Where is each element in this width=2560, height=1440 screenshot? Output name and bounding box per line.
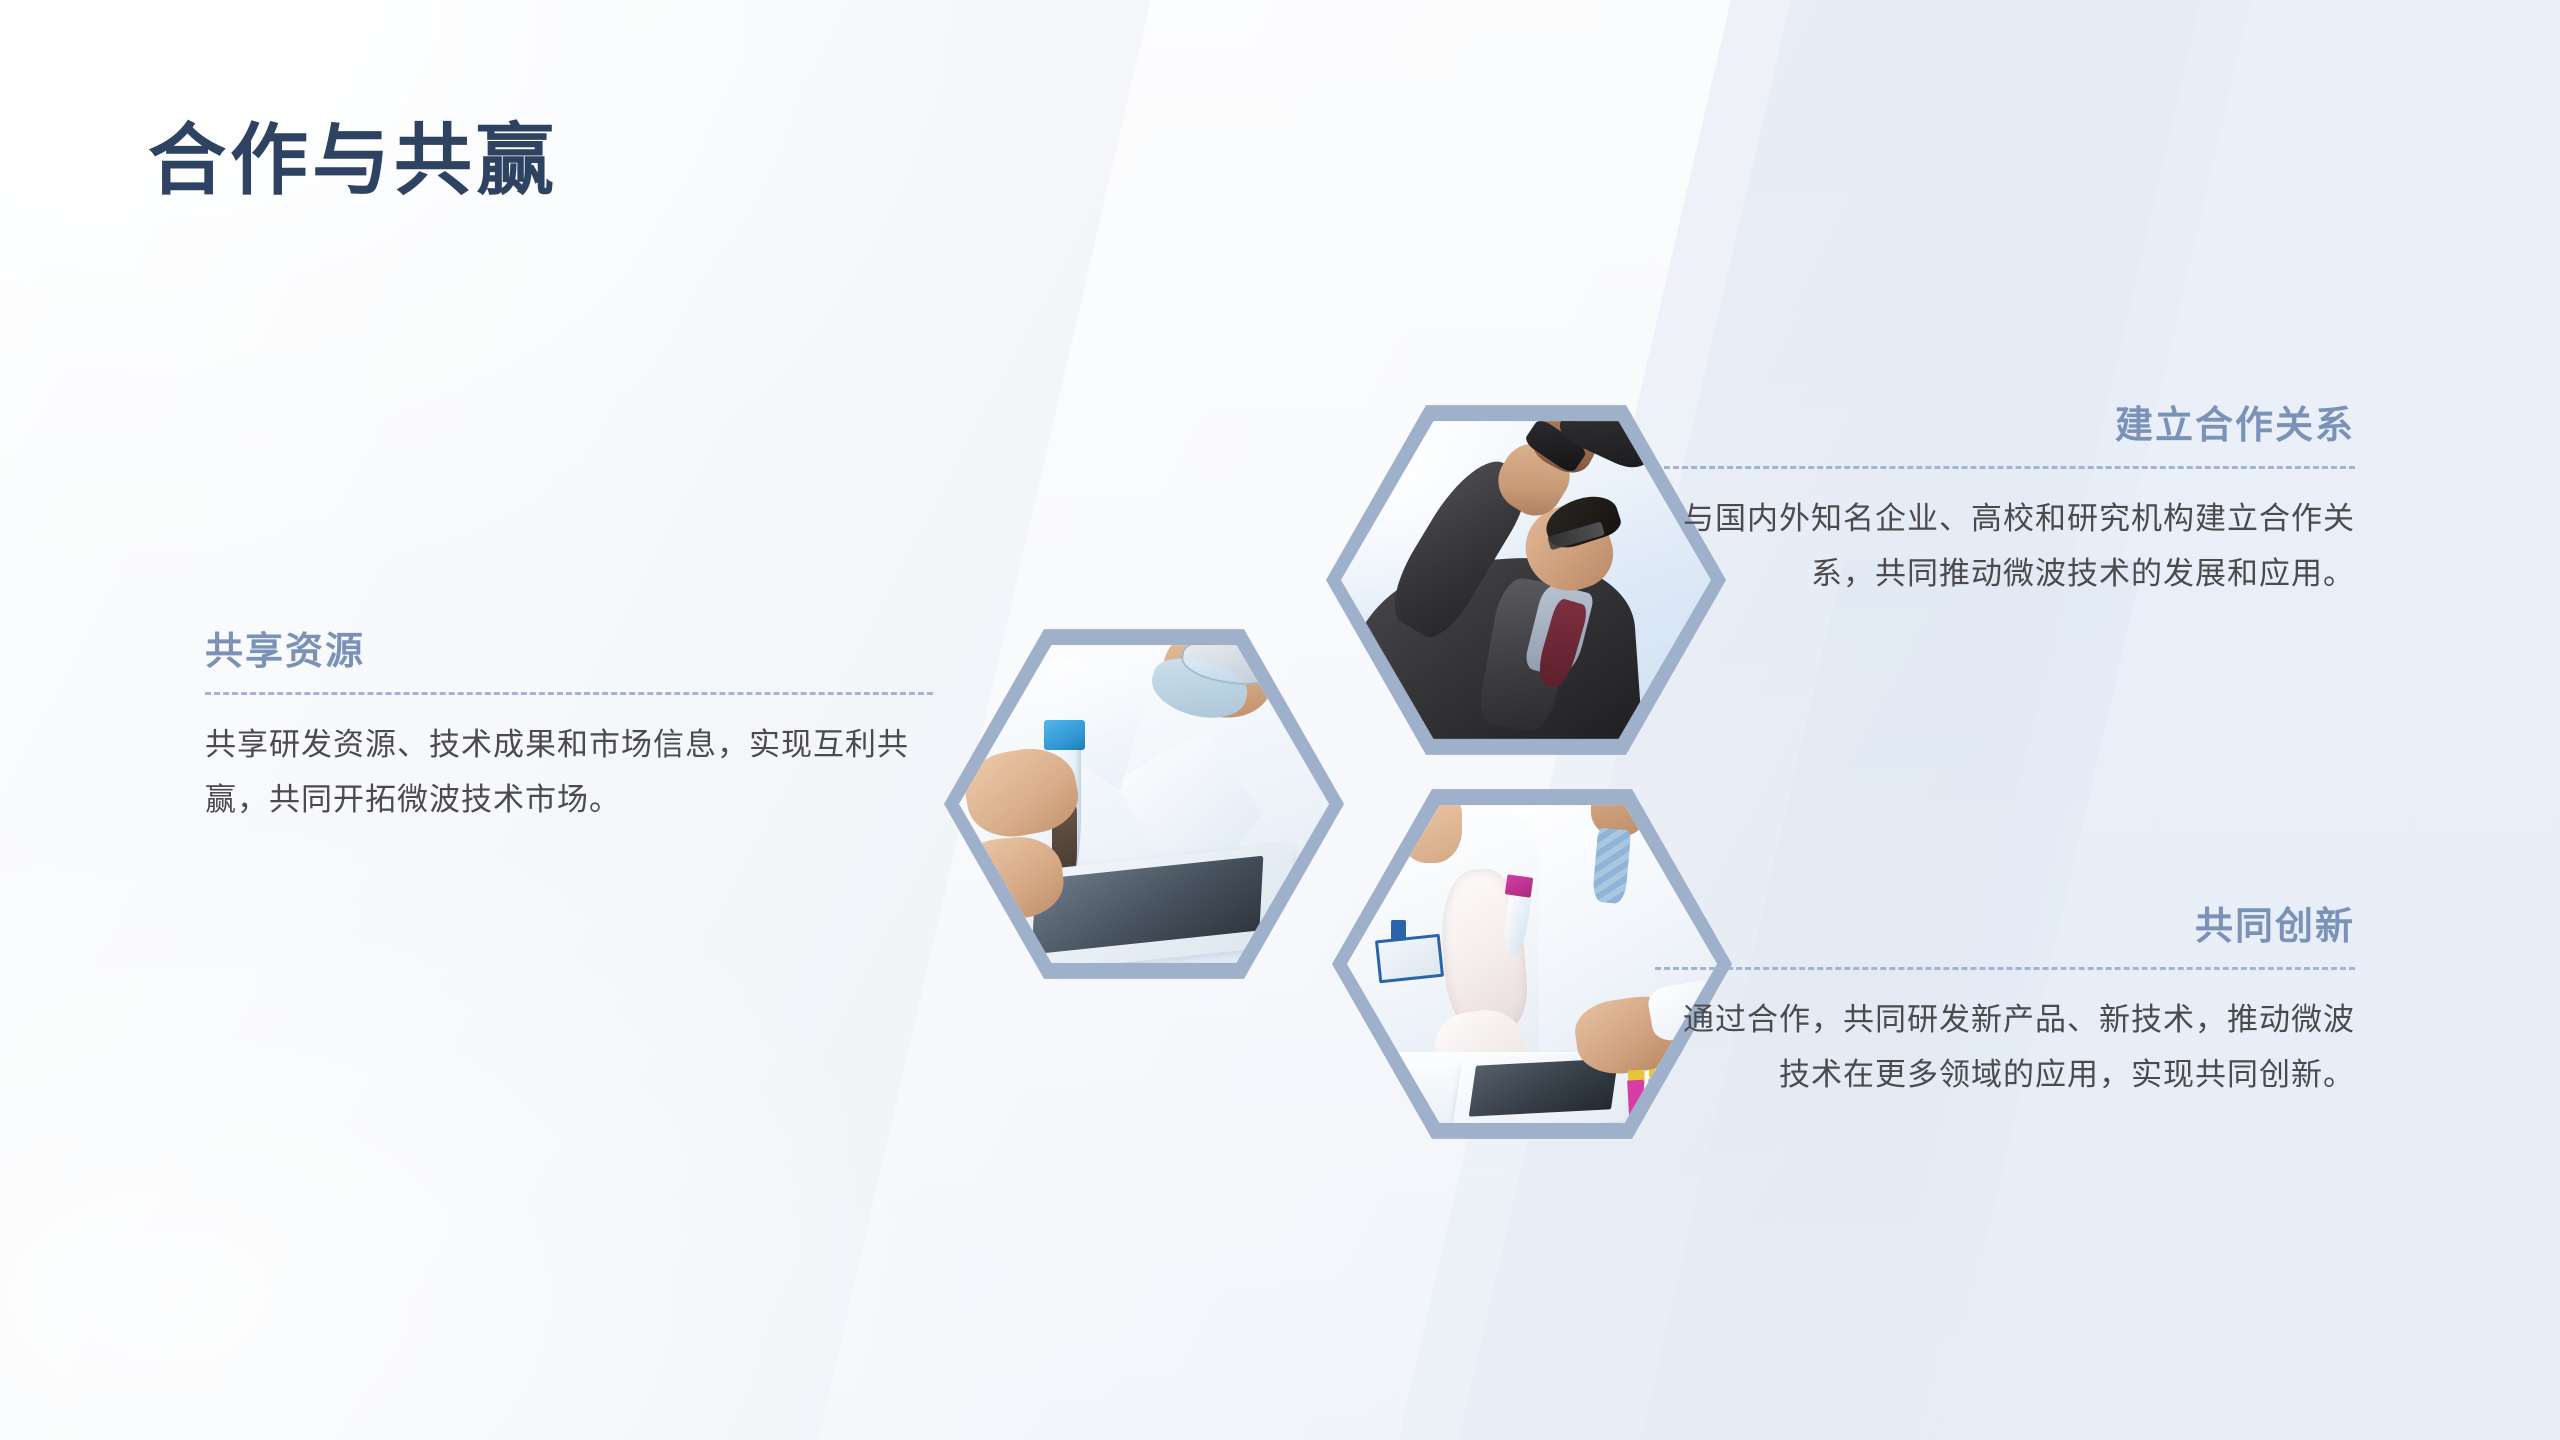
divider-joint-innovation <box>1655 967 2355 970</box>
divider-share-resources <box>205 692 933 695</box>
heading-share-resources: 共享资源 <box>205 630 933 676</box>
background-glow-top-left <box>0 0 1000 640</box>
text-block-joint-innovation: 共同创新 通过合作，共同研发新产品、新技术，推动微波技术在更多领域的应用，实现共… <box>1655 905 2355 1102</box>
body-share-resources: 共享研发资源、技术成果和市场信息，实现互利共赢，共同开拓微波技术市场。 <box>205 717 933 827</box>
hexagon-image-lab <box>944 618 1344 990</box>
slide-canvas: 合作与共赢 <box>0 0 2560 1440</box>
heading-build-partnership: 建立合作关系 <box>1655 404 2355 450</box>
lab-test-tube-cap <box>1044 720 1085 750</box>
body-joint-innovation: 通过合作，共同研发新产品、新技术，推动微波技术在更多领域的应用，实现共同创新。 <box>1655 992 2355 1102</box>
background-diagonal-band-3 <box>1799 0 2560 1440</box>
text-block-build-partnership: 建立合作关系 与国内外知名企业、高校和研究机构建立合作关系，共同推动微波技术的发… <box>1655 404 2355 601</box>
heading-joint-innovation: 共同创新 <box>1655 905 2355 951</box>
team-test-tube-cap <box>1505 874 1533 898</box>
body-build-partnership: 与国内外知名企业、高校和研究机构建立合作关系，共同推动微波技术的发展和应用。 <box>1655 491 2355 601</box>
divider-build-partnership <box>1655 466 2355 469</box>
team-id-badge <box>1375 934 1444 984</box>
text-block-share-resources: 共享资源 共享研发资源、技术成果和市场信息，实现互利共赢，共同开拓微波技术市场。 <box>205 630 933 827</box>
slide-title: 合作与共赢 <box>148 118 558 204</box>
background-glow-bottom-left <box>0 780 940 1440</box>
